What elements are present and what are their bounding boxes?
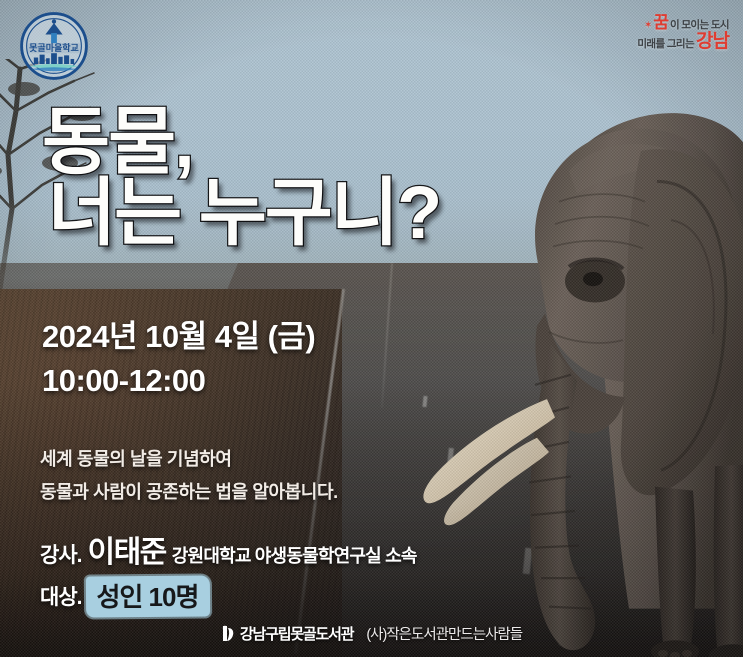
school-logo-text: 못골마을학교 — [29, 42, 79, 53]
target-label: 대상. — [40, 581, 81, 611]
lecturer-name: 이태준 — [87, 527, 165, 571]
gangnam-city-logo: ✶ 꿈 이 모이는 도시 미래를 그리는 강남 — [637, 14, 729, 52]
lecturer-block: 강사. 이태준 강원대학교 야생동물학연구실 소속 — [40, 527, 417, 571]
lecturer-affiliation: 강원대학교 야생동물학연구실 소속 — [172, 542, 417, 568]
organizer-name: (사)작은도서관만드는사람들 — [366, 623, 522, 644]
description-line-2: 동물과 사람이 공존하는 법을 알아봅니다. — [40, 476, 338, 509]
motgol-village-school-logo: 못골마을학교 — [18, 10, 90, 82]
gangnam-line2-rest: 미래를 그리는 — [637, 39, 694, 50]
gangnam-line1-rest: 이 모이는 도시 — [670, 20, 729, 31]
description-block: 세계 동물의 날을 기념하여 동물과 사람이 공존하는 법을 알아봅니다. — [40, 443, 338, 510]
event-time: 10:00-12:00 — [42, 359, 315, 403]
event-date: 2024년 10월 4일 (금) — [42, 315, 315, 359]
poster-content: 동물, 너는 누구니? 2024년 10월 4일 (금) 10:00-12:00… — [0, 0, 743, 657]
target-audience-block: 대상. 성인 10명 — [40, 575, 210, 617]
description-line-1: 세계 동물의 날을 기념하여 — [40, 443, 338, 476]
library-mark-icon — [221, 625, 236, 642]
gangnam-accent-name: 강남 — [696, 32, 729, 52]
poster-footer: 강남구립못골도서관 (사)작은도서관만드는사람들 — [0, 623, 743, 644]
title-line-2: 너는 누구니? — [48, 175, 440, 250]
star-icon: ✶ — [644, 21, 652, 32]
gangnam-logo-line1: ✶ 꿈 이 모이는 도시 — [637, 14, 729, 32]
library-name: 강남구립못골도서관 — [240, 623, 353, 644]
lecturer-label: 강사. — [40, 539, 81, 569]
poster-title: 동물, 너는 누구니? — [42, 104, 440, 251]
poster-canvas: 못골마을학교 ✶ 꿈 이 모이는 도시 미래를 그리는 강남 — [0, 0, 743, 657]
schedule-block: 2024년 10월 4일 (금) 10:00-12:00 — [42, 315, 315, 403]
library-credit: 강남구립못골도서관 — [221, 623, 353, 644]
target-value-highlight: 성인 10명 — [86, 575, 210, 617]
gangnam-accent-dream: 꿈 — [653, 14, 668, 32]
gangnam-logo-line2: 미래를 그리는 강남 — [637, 32, 729, 52]
